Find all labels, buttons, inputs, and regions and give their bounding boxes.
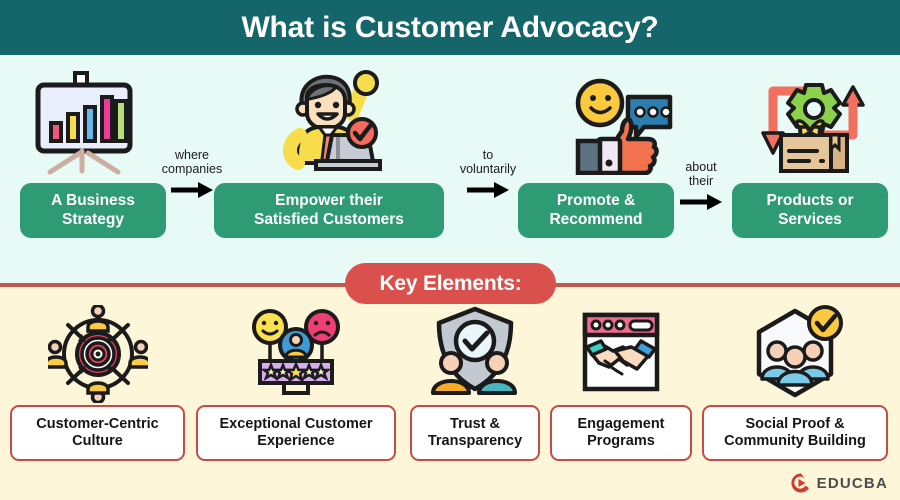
target-people-network-icon [48,305,148,408]
key-element-5-label: Social Proof & Community Building [724,416,866,451]
key-element-5-card: Social Proof & Community Building [702,405,888,461]
flow-step-2-box: Empower their Satisfied Customers [214,183,444,238]
key-element-3-card: Trust & Transparency [410,405,540,461]
gift-box-gear-arrows-icon [761,73,867,180]
flow-step-3-box: Promote & Recommend [518,183,674,238]
key-element-4: Engagement Programs [550,305,692,465]
key-element-2-card: Exceptional Customer Experience [196,405,396,461]
key-element-4-label: Engagement Programs [577,416,664,451]
flow-step-4: Products or Services [726,55,892,230]
educba-logo: EDUCBA [790,472,888,494]
infographic-root: What is Customer Advocacy? [0,0,900,500]
key-element-2-label: Exceptional Customer Experience [219,416,372,451]
key-elements-banner: Key Elements: [345,263,556,304]
key-elements-banner-label: Key Elements: [379,272,521,296]
flow-step-2: Empower their Satisfied Customers [214,55,446,230]
flow-step-3-label: Promote & Recommend [549,192,642,229]
arrow-right-icon [169,179,215,201]
educba-logo-icon [790,472,812,494]
celebrating-person-laptop-icon [276,69,384,182]
thumbs-up-chat-icon [570,75,678,180]
rating-stars-feedback-icon [248,305,344,406]
flow-step-2-label: Empower their Satisfied Customers [254,192,404,229]
flow-connector-3-label: about their [670,160,732,189]
flow-step-3: Promote & Recommend [510,55,682,230]
arrow-right-icon [678,191,724,213]
key-element-5: Social Proof & Community Building [702,305,888,465]
community-hexagon-check-icon [745,305,845,406]
flow-connector-3: about their [670,160,732,213]
flow-step-4-label: Products or Services [767,192,854,229]
handshake-browser-icon [579,305,663,402]
arrow-right-icon [465,179,511,201]
flow-step-4-box: Products or Services [732,183,888,238]
key-elements-section: Customer-Centric Culture [0,287,900,500]
flow-section: A Business Strategy where companies [0,55,900,285]
flow-step-1-label: A Business Strategy [51,192,135,229]
key-element-1-card: Customer-Centric Culture [10,405,185,461]
key-element-3: Trust & Transparency [410,305,540,465]
key-element-4-card: Engagement Programs [550,405,692,461]
header-bar: What is Customer Advocacy? [0,0,900,55]
educba-logo-text: EDUCBA [817,475,888,492]
flow-step-1-box: A Business Strategy [20,183,166,238]
key-element-2: Exceptional Customer Experience [196,305,396,465]
key-element-3-label: Trust & Transparency [428,416,522,451]
presentation-chart-icon [30,71,140,181]
page-title: What is Customer Advocacy? [241,11,658,45]
key-element-1-label: Customer-Centric Culture [36,416,158,451]
shield-check-people-icon [429,305,521,406]
key-element-1: Customer-Centric Culture [10,305,185,465]
flow-step-1: A Business Strategy [10,55,180,230]
